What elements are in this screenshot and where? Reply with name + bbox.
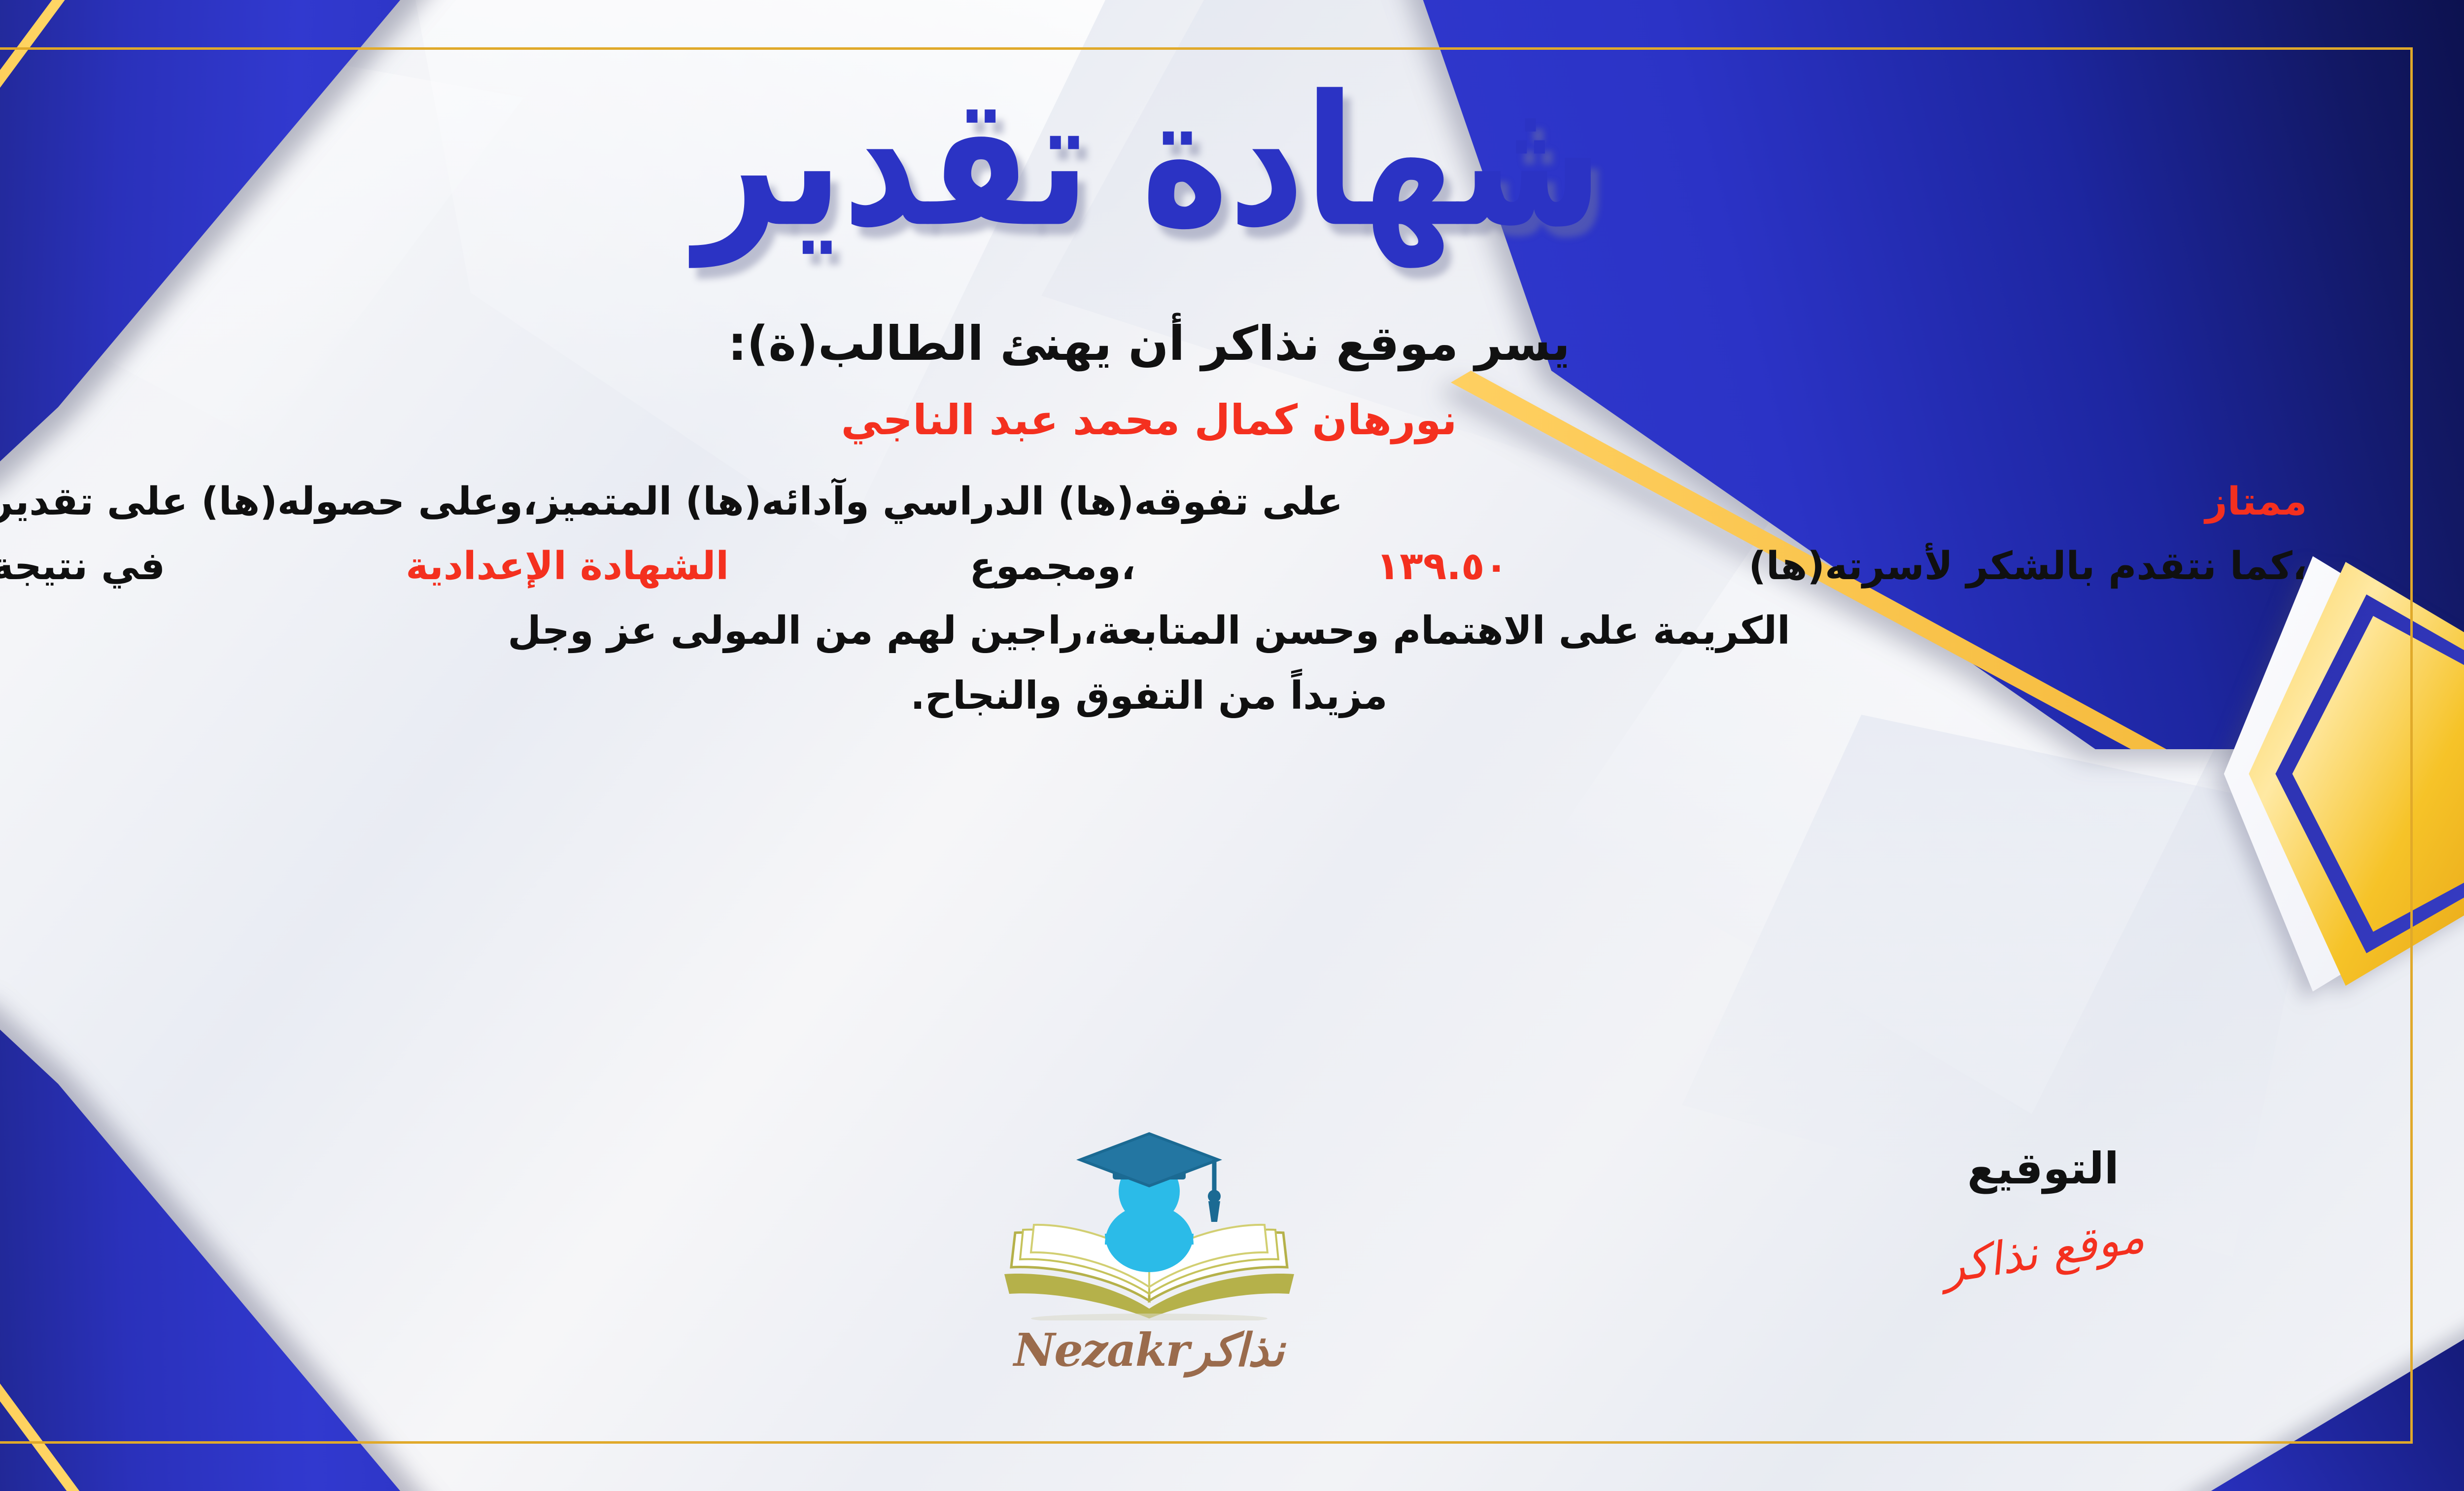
- logo-text-ar: نذاكر: [1189, 1323, 1284, 1377]
- student-name: نورهان كمال محمد عبد الناجي: [841, 396, 1457, 444]
- body-line-4: مزيداً من التفوق والنجاح.: [0, 666, 2307, 727]
- signature-label: التوقيع: [1940, 1143, 2147, 1194]
- certificate-title: شهادة تقدير: [695, 67, 1603, 256]
- grade-value: ممتاز: [2205, 472, 2307, 532]
- body-line-2-head: في نتيجة: [0, 536, 165, 597]
- certificate-page: شهادة تقدير يسر موقع نذاكر أن يهنئ الطال…: [0, 0, 2464, 1491]
- intro-line: يسر موقع نذاكر أن يهنئ الطالب(ة):: [728, 316, 1570, 371]
- total-label: ،ومجموع: [969, 536, 1135, 597]
- graduate-book-logo-icon: [962, 1128, 1336, 1320]
- certificate-body: ممتاز على تفوقه(ها) الدراسي وآدائه(ها) ا…: [0, 472, 2307, 730]
- body-line-2: ،كما نتقدم بالشكر لأسرته(ها) ١٣٩.٥٠ ،ومج…: [0, 536, 2307, 597]
- signature-block: التوقيع موقع نذاكر: [1940, 1143, 2147, 1278]
- certificate-footer: التوقيع موقع نذاكر: [0, 1123, 2413, 1429]
- body-line-3: الكريمة على الاهتمام وحسن المتابعة،راجين…: [0, 601, 2307, 661]
- site-logo: نذاكرNezakr: [962, 1128, 1336, 1377]
- exam-name: الشهادة الإعدادية: [406, 536, 729, 597]
- body-line-2-tail: ،كما نتقدم بالشكر لأسرته(ها): [1748, 536, 2307, 597]
- body-line-1-text: على تفوقه(ها) الدراسي وآدائه(ها) المتميز…: [0, 472, 1343, 532]
- body-line-1: ممتاز على تفوقه(ها) الدراسي وآدائه(ها) ا…: [0, 472, 2307, 532]
- signature-handwritten: موقع نذاكر: [1937, 1210, 2150, 1294]
- logo-wordmark: نذاكرNezakr: [962, 1323, 1336, 1377]
- logo-text-en: Nezakr: [1014, 1323, 1189, 1377]
- total-score-value: ١٣٩.٥٠: [1376, 536, 1508, 597]
- certificate-content: شهادة تقدير يسر موقع نذاكر أن يهنئ الطال…: [0, 47, 2413, 1444]
